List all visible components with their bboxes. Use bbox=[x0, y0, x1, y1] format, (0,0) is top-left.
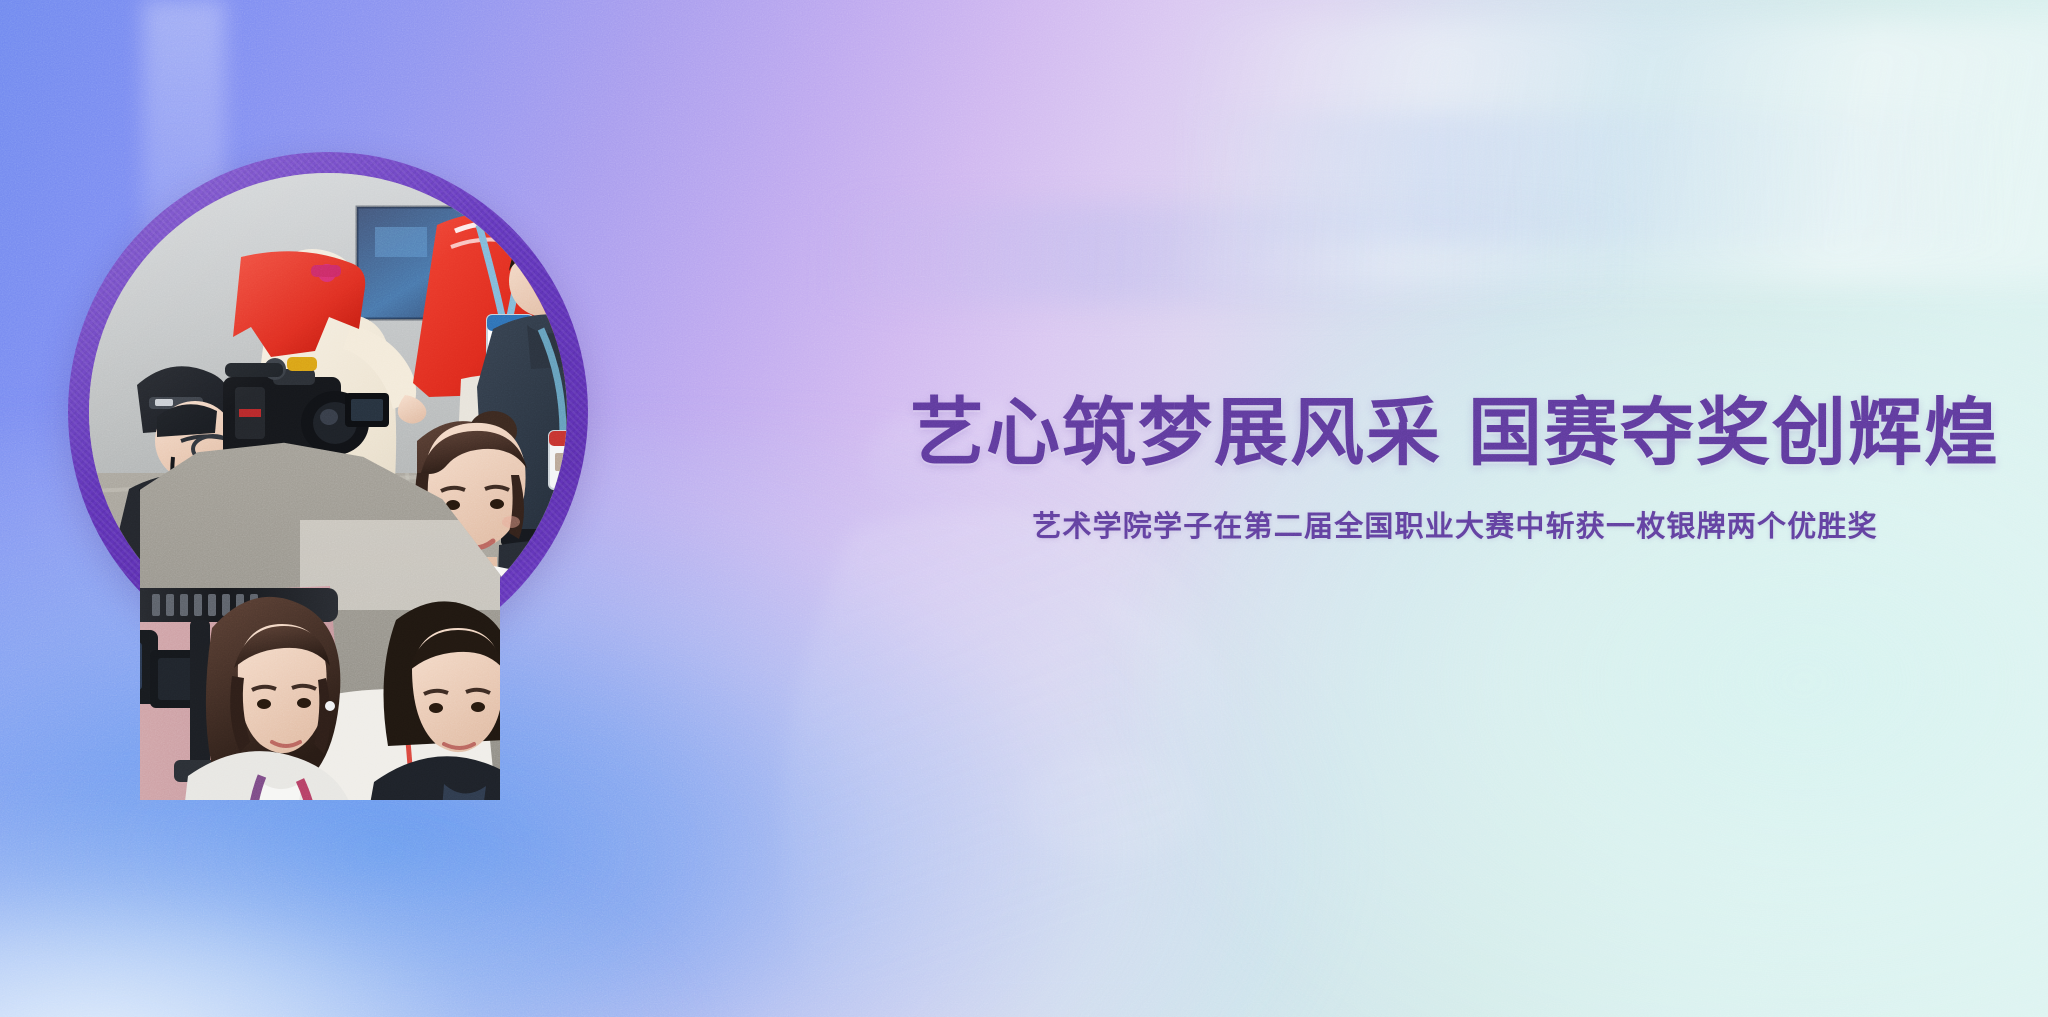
banner-text-block: 艺心筑梦展风采国赛夺奖创辉煌 艺术学院学子在第二届全国职业大赛中斩获一枚银牌两个… bbox=[900, 392, 2010, 547]
headline-segment-1: 艺心筑梦展风采 bbox=[910, 391, 1442, 474]
banner-root: 艺心筑梦展风采国赛夺奖创辉煌 艺术学院学子在第二届全国职业大赛中斩获一枚银牌两个… bbox=[0, 0, 2048, 1017]
banner-subheadline: 艺术学院学子在第二届全国职业大赛中斩获一枚银牌两个优胜奖 bbox=[900, 509, 2010, 547]
headline-segment-2: 国赛夺奖创辉煌 bbox=[1468, 391, 2000, 474]
background-wisp-left bbox=[819, 203, 1638, 305]
banner-headline: 艺心筑梦展风采国赛夺奖创辉煌 bbox=[900, 392, 2010, 475]
